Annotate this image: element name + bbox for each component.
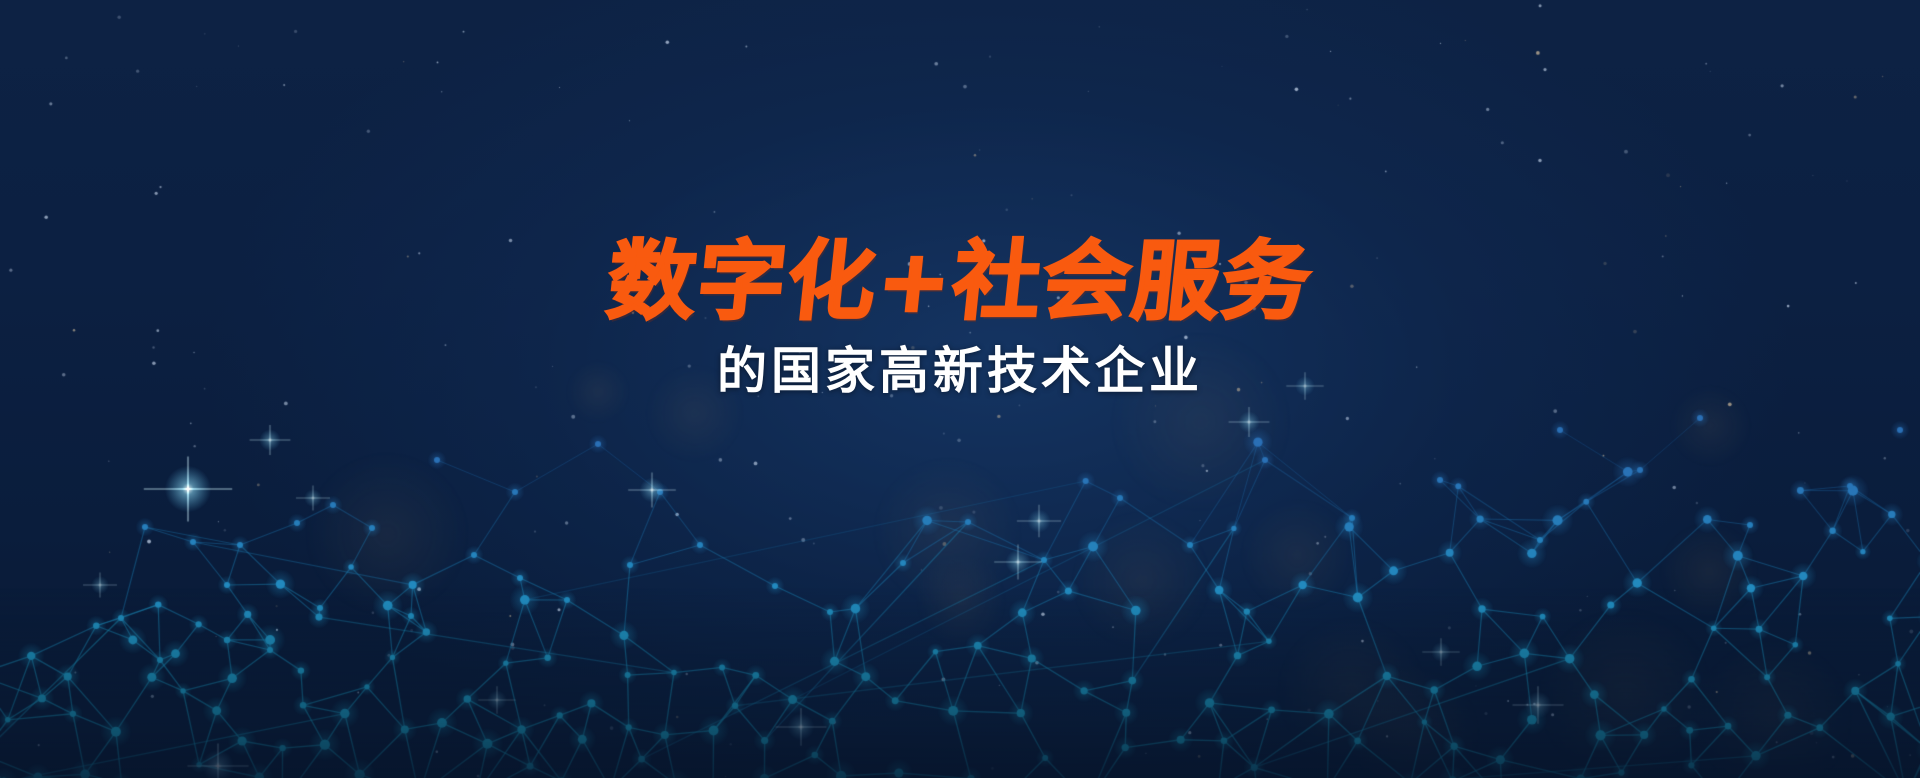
hero-subtitle: 的国家高新技术企业 [717,343,1203,398]
hero-banner: 数字化+社会服务 的国家高新技术企业 [0,0,1920,778]
hero-title: 数字化+社会服务 [603,239,1316,327]
